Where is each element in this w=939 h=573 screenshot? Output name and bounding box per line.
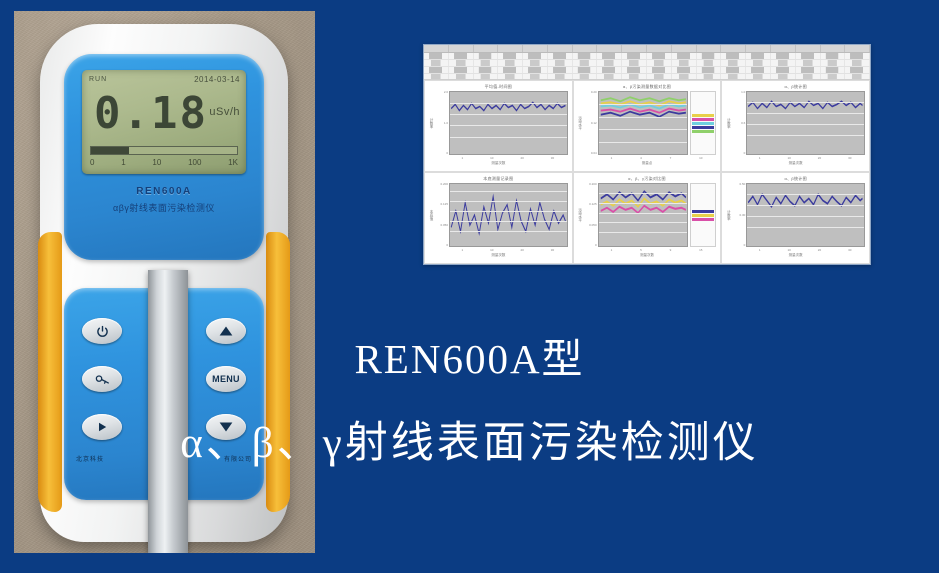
table-row [424,67,870,74]
chart-ylabel: 计数率 [430,118,435,129]
x-tick: 1 [611,156,613,160]
x-tick: 20 [818,156,821,160]
table-row [424,60,870,67]
chart-series-line [450,184,567,246]
legend-swatch [692,218,714,221]
x-tick: 20 [520,156,523,160]
x-tick: 1 [461,248,463,252]
device-top-face: RUN 2014-03-14 0.18 uSv/h 0 1 10 100 1K [64,54,264,260]
table-header-cell [821,45,846,52]
chart-plot-area [598,183,689,247]
product-photo: RUN 2014-03-14 0.18 uSv/h 0 1 10 100 1K [14,11,315,553]
legend-swatch [692,122,714,125]
chart-ylabel: 本底值 [430,210,435,221]
chart-panel[interactable]: α、β统计图 计数率 0.50 0.30 0 [721,172,870,264]
table-header-cell [498,45,523,52]
data-table [424,45,870,80]
table-header-cell [573,45,598,52]
y-tick: 0.30 [739,214,745,217]
table-header-cell [771,45,796,52]
legend-swatch [692,114,714,117]
chart-panel[interactable]: α、β统计图 计数率 1.0 0.6 0 [721,80,870,172]
table-row [424,53,870,60]
y-tick: 0.12 [591,122,597,125]
chart-ylabel: 污染水平 [579,116,584,130]
chart-plot-area [746,91,865,155]
lcd-bargraph [90,146,238,155]
chart-ylabel: 污染水平 [579,208,584,222]
table-header-cell [721,45,746,52]
chart-plot-area [598,91,689,155]
table-header-row [424,45,870,53]
lcd-bargraph-fill [91,147,129,154]
y-tick: 2.0 [444,91,448,94]
y-tick: 0.200 [440,183,448,186]
table-header-cell [622,45,647,52]
chart-plot-area [746,183,865,247]
chart-title: 本底测量记录图 [429,176,568,183]
y-tick: 0.125 [589,203,597,206]
table-header-cell [548,45,573,52]
chart-xlabel: 测量次数 [578,253,717,260]
chart-yaxis: 2.0 1.0 0 [436,91,449,155]
y-tick: 0.20 [591,91,597,94]
lcd-status-right: 2014-03-14 [194,75,240,84]
chart-yaxis: 0.200 0.125 0.050 0 [585,183,598,247]
lcd-display: RUN 2014-03-14 0.18 uSv/h 0 1 10 100 1K [82,70,246,174]
table-header-cell [697,45,722,52]
x-tick: 15 [699,248,702,252]
lcd-scale: 0 1 10 100 1K [90,156,238,168]
chart-legend [690,91,716,155]
chart-series-line [450,92,567,154]
legend-swatch [692,126,714,129]
legend-swatch [692,130,714,133]
table-header-cell [746,45,771,52]
x-tick: 5 [640,248,642,252]
x-tick: 30 [551,248,554,252]
legend-swatch [692,118,714,121]
table-header-cell [647,45,672,52]
lcd-scale-tick: 10 [152,158,161,167]
x-tick: 10 [699,156,702,160]
chart-title: 平均值-时间图 [429,84,568,91]
x-tick: 10 [490,156,493,160]
x-tick: 1 [759,156,761,160]
y-tick: 0.200 [589,183,597,186]
y-tick: 1.0 [741,91,745,94]
x-tick: 10 [787,248,790,252]
poster-canvas: RUN 2014-03-14 0.18 uSv/h 0 1 10 100 1K [0,0,939,573]
chart-ylabel: 计数率 [727,118,732,129]
y-tick: 0.50 [739,183,745,186]
chart-yaxis: 1.0 0.6 0 [733,91,746,155]
product-title-line2: α、β、γ射线表面污染检测仪 [0,408,939,470]
x-tick: 10 [490,248,493,252]
chart-panel[interactable]: α、β污染测量数据对比图 污染水平 0.20 0.12 0.04 [573,80,722,172]
chart-yaxis: 0.50 0.30 0 [733,183,746,247]
y-tick: 0.050 [440,224,448,227]
x-tick: 9 [670,248,672,252]
lcd-scale-tick: 1 [121,158,125,167]
table-header-cell [523,45,548,52]
x-tick: 30 [551,156,554,160]
chart-panel[interactable]: 本底测量记录图 本底值 0.200 0.125 0.050 0 [424,172,573,264]
chart-panel[interactable]: α、β、γ污染对比图 污染水平 0.200 0.125 0.050 0 [573,172,722,264]
table-header-cell [597,45,622,52]
lcd-scale-tick: 100 [188,158,201,167]
x-tick: 10 [787,156,790,160]
y-tick: 0.125 [440,203,448,206]
chart-plot-area [449,91,568,155]
product-title-line1: REN600A型 [0,325,939,385]
chart-yaxis: 0.200 0.125 0.050 0 [436,183,449,247]
chart-series-lines [599,92,688,154]
chart-yaxis: 0.20 0.12 0.04 [585,91,598,155]
chart-title: α、β统计图 [726,84,865,91]
chart-legend [690,183,716,247]
lcd-reading-unit: uSv/h [209,106,240,118]
legend-swatch [692,214,714,217]
x-tick: 30 [848,248,851,252]
table-header-cell [672,45,697,52]
x-tick: 30 [848,156,851,160]
table-header-cell [796,45,821,52]
y-tick: 0.6 [741,122,745,125]
chart-panel[interactable]: 平均值-时间图 计数率 2.0 1.0 0 [424,80,573,172]
lcd-reading-value: 0.18 [94,92,208,136]
chart-plot-area [449,183,568,247]
x-tick: 20 [520,248,523,252]
table-header-cell [845,45,870,52]
chart-xlabel: 测量次数 [726,253,865,260]
x-tick: 1 [611,248,613,252]
table-header-cell [449,45,474,52]
table-header-cell [474,45,499,52]
chart-xlabel: 测量点 [578,161,717,168]
y-tick: 0.050 [589,224,597,227]
device-model-label: REN600A [64,186,264,197]
y-tick: 1.0 [444,122,448,125]
chart-xlabel: 测量次数 [429,161,568,168]
x-tick: 1 [461,156,463,160]
software-screenshot: 平均值-时间图 计数率 2.0 1.0 0 [423,44,871,265]
chart-grid: 平均值-时间图 计数率 2.0 1.0 0 [424,80,870,264]
x-tick: 4 [640,156,642,160]
chart-xlabel: 测量次数 [429,253,568,260]
chart-title: α、β污染测量数据对比图 [578,84,717,91]
x-tick: 1 [759,248,761,252]
x-tick: 20 [818,248,821,252]
chart-ylabel: 计数率 [727,210,732,221]
table-header-cell [424,45,449,52]
legend-swatch [692,210,714,213]
device-description-label: αβγ射线表面污染检测仪 [64,201,264,214]
lcd-status-left: RUN [89,76,107,83]
chart-title: α、β统计图 [726,176,865,183]
lcd-scale-tick: 1K [228,158,238,167]
chart-xlabel: 测量次数 [726,161,865,168]
lcd-scale-tick: 0 [90,158,94,167]
chart-title: α、β、γ污染对比图 [578,176,717,183]
x-tick: 7 [670,156,672,160]
